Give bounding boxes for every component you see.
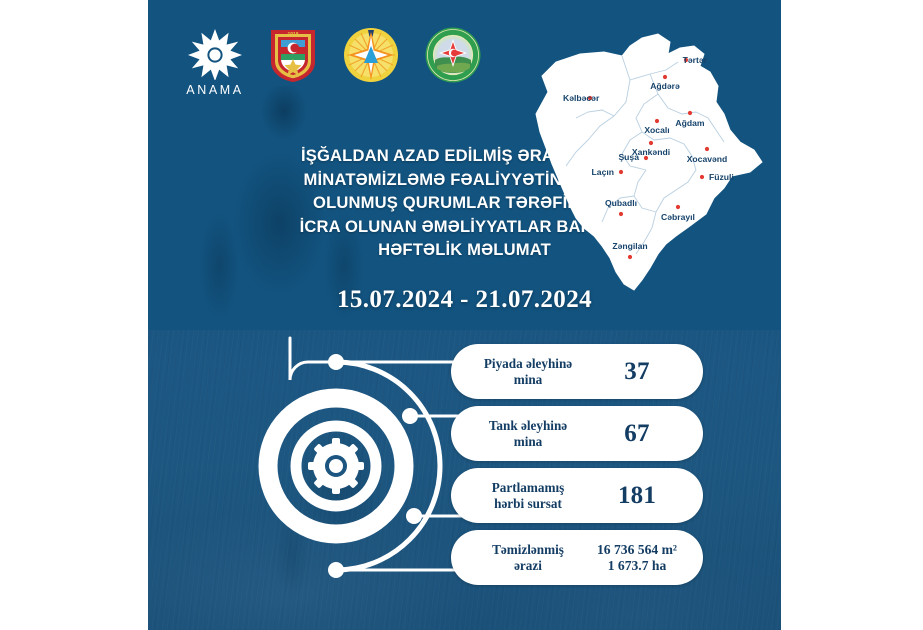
- map-city-dot: [676, 205, 680, 209]
- infographic-canvas: ANAMA 1918: [0, 0, 923, 630]
- map-city-dot: [688, 111, 692, 115]
- stat-label-line: Piyada əleyhinə: [469, 356, 587, 372]
- map-territory-shape: [536, 34, 762, 290]
- stat-value: 67: [587, 421, 687, 447]
- map-city-label: Ağdam: [675, 118, 704, 128]
- stat-value: 37: [587, 359, 687, 385]
- stat-label-line: mina: [469, 372, 587, 388]
- map-city-label: Zəngilan: [612, 241, 647, 251]
- stat-value-line: 16 736 564 m²: [587, 542, 687, 558]
- stat-label: Təmizlənmiş ərazi: [469, 542, 587, 573]
- map-city-dot: [649, 141, 653, 145]
- state-border-service-seal-icon: [424, 26, 482, 84]
- stat-label: Partlamamış hərbi sursat: [469, 480, 587, 511]
- map-city-label: Kəlbəcər: [563, 93, 600, 103]
- stat-value: 181: [587, 483, 687, 509]
- map-city-label: Xocavənd: [687, 154, 728, 164]
- emblem-rings: [268, 362, 440, 570]
- ministry-of-defence-shield-icon: 1918: [268, 26, 318, 84]
- stat-card-anti-personnel-mines[interactable]: Piyada əleyhinə mina 37: [451, 344, 703, 399]
- stat-label: Tank əleyhinə mina: [469, 418, 587, 449]
- map-city-dot: [655, 119, 659, 123]
- stat-label-line: Tank əleyhinə: [469, 418, 587, 434]
- stat-card-list: Piyada əleyhinə mina 37 Tank əleyhinə mi…: [451, 344, 703, 592]
- stat-label-line: Partlamamış: [469, 480, 587, 496]
- stat-value: 16 736 564 m² 1 673.7 ha: [587, 542, 687, 574]
- map-city-dot: [619, 212, 623, 216]
- map-city-label: Tərtər: [683, 55, 708, 65]
- logo-emergency-situations: [342, 26, 400, 84]
- logo-anama: ANAMA: [186, 26, 244, 97]
- emergency-situations-emblem-icon: [342, 26, 400, 84]
- map-city-label: Şuşa: [618, 152, 639, 162]
- stat-card-unexploded-ordnance[interactable]: Partlamamış hərbi sursat 181: [451, 468, 703, 523]
- map-city-label: Füzuli: [709, 172, 734, 182]
- svg-text:1918: 1918: [287, 32, 298, 38]
- map-city-label: Xocalı: [644, 125, 669, 135]
- map-city-label: Qubadlı: [605, 198, 637, 208]
- logo-ministry-of-defence: 1918: [268, 26, 318, 84]
- stat-value-line: 67: [587, 421, 687, 447]
- poster-panel: ANAMA 1918: [148, 0, 781, 630]
- stat-label: Piyada əleyhinə mina: [469, 356, 587, 387]
- stat-value-line: 37: [587, 359, 687, 385]
- emblem-gear-center: [308, 438, 364, 494]
- map-city-label: Ağdərə: [650, 81, 680, 91]
- map-city-dot: [628, 255, 632, 259]
- map-city-dot: [705, 147, 709, 151]
- anama-star-icon: [186, 26, 244, 80]
- map-city-dot: [700, 175, 704, 179]
- logo-state-border-service: [424, 26, 482, 84]
- stat-label-line: hərbi sursat: [469, 496, 587, 512]
- stat-value-line: 1 673.7 ha: [587, 558, 687, 574]
- karabakh-map: TərtərAğdərəKəlbəcərAğdamXocalıXankəndiX…: [518, 22, 780, 304]
- stat-label-line: mina: [469, 434, 587, 450]
- stat-label-line: Təmizlənmiş: [469, 542, 587, 558]
- stat-card-anti-tank-mines[interactable]: Tank əleyhinə mina 67: [451, 406, 703, 461]
- map-city-dot: [619, 170, 623, 174]
- logo-strip: ANAMA 1918: [186, 26, 482, 97]
- anama-wordmark: ANAMA: [186, 83, 243, 97]
- map-city-label: Laçın: [592, 167, 614, 177]
- stat-value-line: 181: [587, 483, 687, 509]
- stat-label-line: ərazi: [469, 558, 587, 574]
- stat-card-cleared-area[interactable]: Təmizlənmiş ərazi 16 736 564 m² 1 673.7 …: [451, 530, 703, 585]
- map-city-dot: [663, 75, 667, 79]
- map-city-label: Cəbrayıl: [661, 212, 695, 222]
